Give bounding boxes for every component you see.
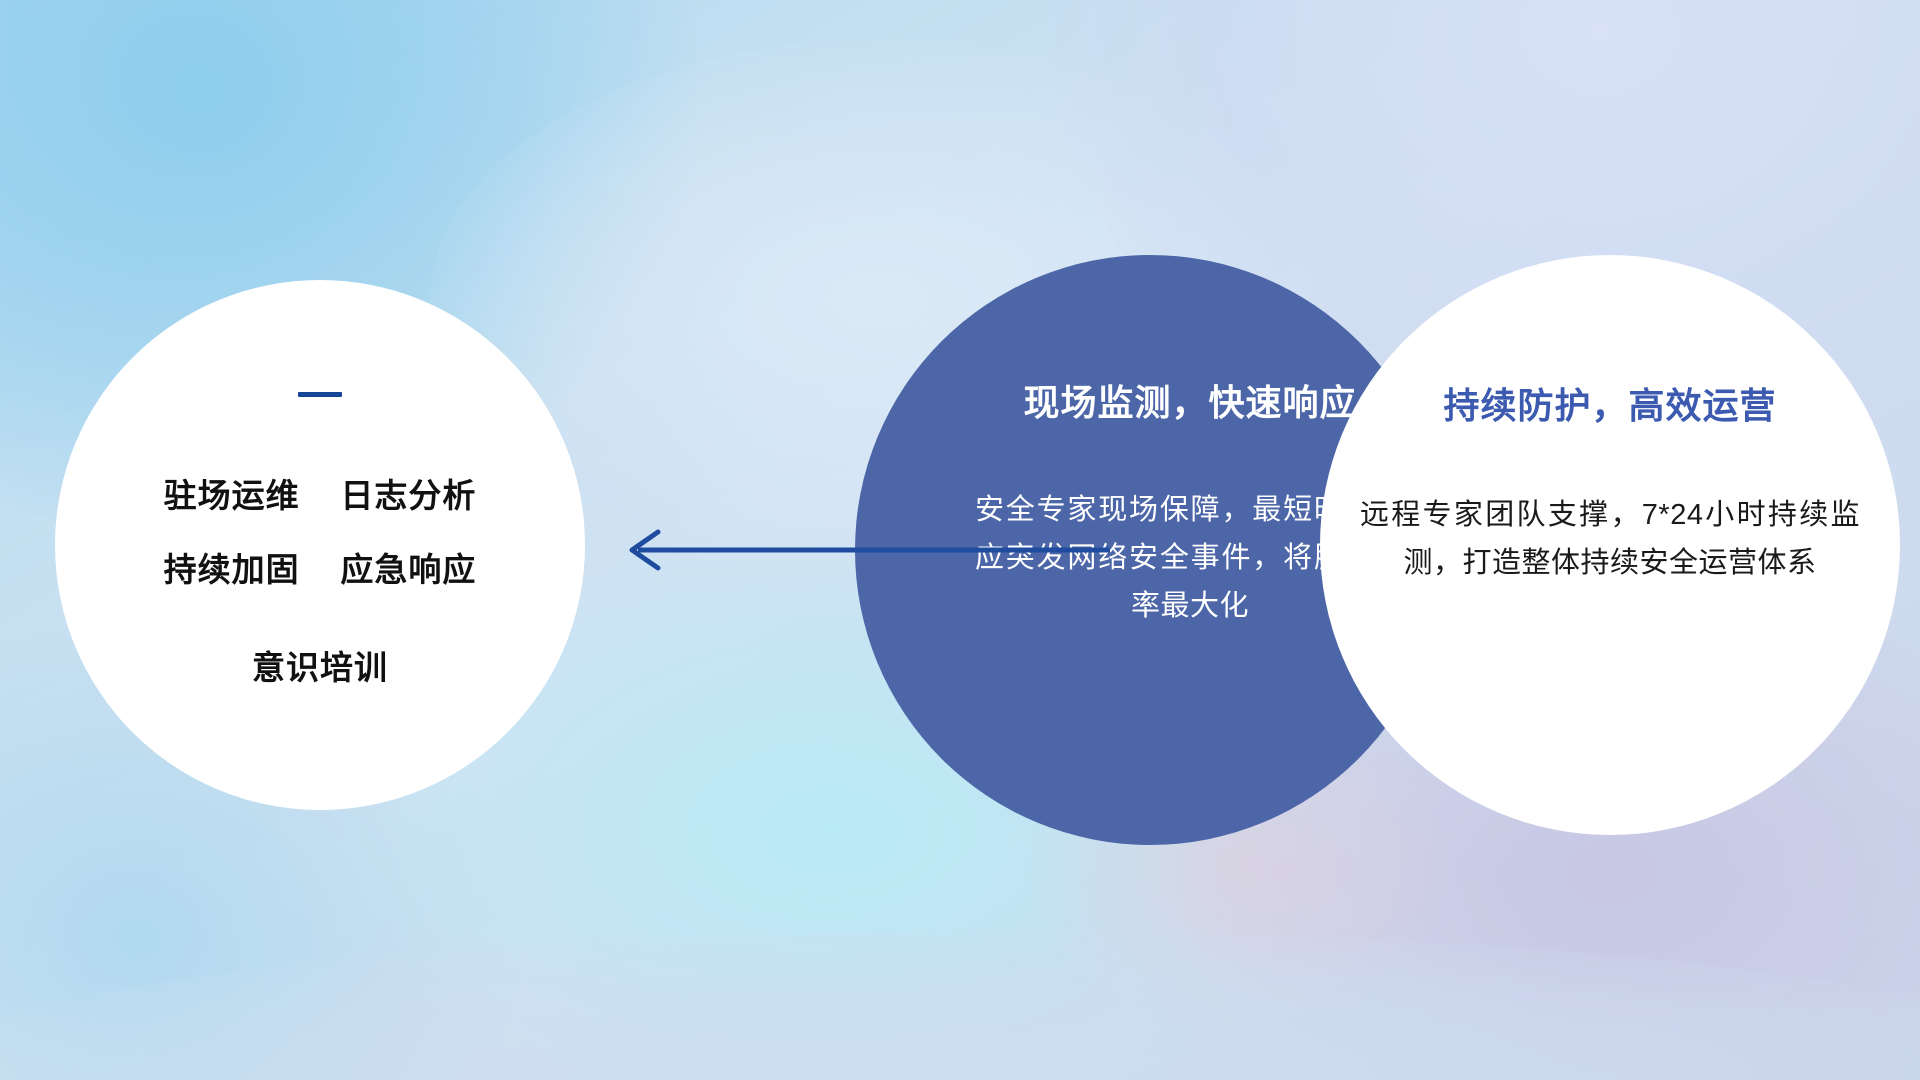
circle-service-capabilities[interactable]: 驻场运维 日志分析 持续加固 应急响应 意识培训 xyxy=(55,280,585,810)
list-item: 驻场运维 日志分析 xyxy=(55,459,585,533)
circle-onsite-monitoring-title: 现场监测，快速响应 xyxy=(975,380,1405,426)
list-item: 持续加固 应急响应 xyxy=(55,533,585,607)
circle-continuous-protection-content: 持续防护，高效运营 远程专家团队支撑，7*24小时持续监测，打造整体持续安全运营… xyxy=(1360,383,1860,587)
circle-continuous-protection[interactable]: 持续防护，高效运营 远程专家团队支撑，7*24小时持续监测，打造整体持续安全运营… xyxy=(1320,255,1900,835)
slide-canvas: 现场监测，快速响应 安全专家现场保障，最短时间响应突发网络安全事件，将服务效率最… xyxy=(0,0,1920,1080)
list-item: 意识培训 xyxy=(55,631,585,705)
divider-dash-icon xyxy=(298,392,342,397)
circle-continuous-protection-title: 持续防护，高效运营 xyxy=(1360,383,1860,429)
arrow-left-icon xyxy=(610,515,1120,585)
service-capability-list: 驻场运维 日志分析 持续加固 应急响应 意识培训 xyxy=(55,459,585,705)
circle-continuous-protection-body: 远程专家团队支撑，7*24小时持续监测，打造整体持续安全运营体系 xyxy=(1360,491,1860,587)
circle-service-capabilities-content: 驻场运维 日志分析 持续加固 应急响应 意识培训 xyxy=(55,392,585,705)
